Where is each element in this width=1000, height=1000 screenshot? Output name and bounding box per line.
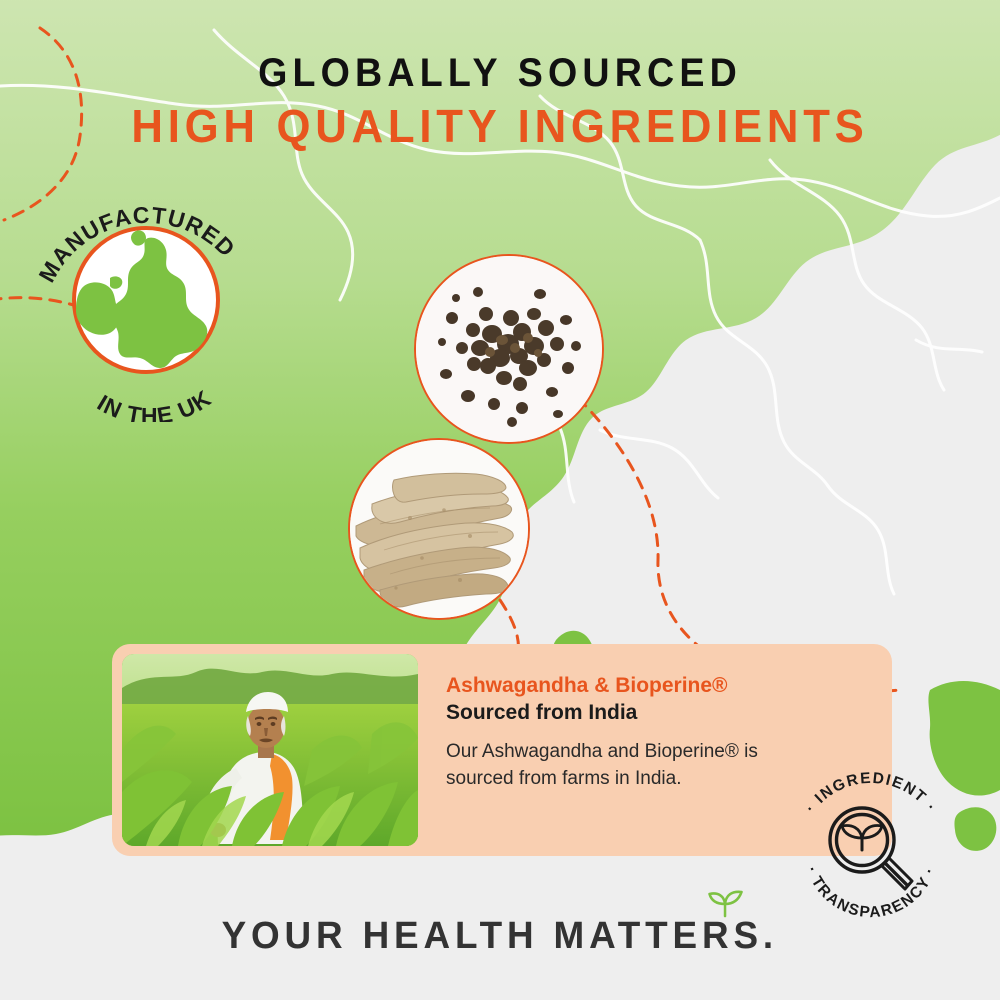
transparency-badge-bottom-text: · TRANSPARENCY · [803,864,939,921]
uk-badge-bottom-text: IN THE UK [93,384,216,422]
card-description: Our Ashwagandha and Bioperine® is source… [446,738,776,792]
magnifier-sprout-icon [830,808,912,889]
header-titles: GLOBALLY SOURCED HIGH QUALITY INGREDIENT… [0,48,1000,154]
ashwagandha-roots-photo [348,438,530,620]
card-heading-origin: Sourced from India [446,699,776,726]
infographic-canvas: GLOBALLY SOURCED HIGH QUALITY INGREDIENT… [0,0,1000,1000]
landmass-island-small [955,807,997,851]
title-line-primary: GLOBALLY SOURCED [30,48,970,98]
card-text-block: Ashwagandha & Bioperine® Sourced from In… [418,644,796,856]
india-sourcing-info-card: Ashwagandha & Bioperine® Sourced from In… [112,644,892,856]
footer-tagline-text: YOUR HEALTH MATTERS. [222,915,778,957]
footer-tagline: YOUR HEALTH MATTERS. [222,915,778,958]
ingredient-transparency-badge: · INGREDIENT · · TRANSPARENCY · [786,762,956,932]
card-heading-ingredients: Ashwagandha & Bioperine® [446,672,776,699]
manufactured-in-uk-badge: MANUFACTURED IN THE UK [22,192,272,422]
farmer-field-photo [122,654,418,846]
title-line-secondary: HIGH QUALITY INGREDIENTS [25,98,975,154]
black-peppercorns-photo [414,254,604,444]
sprout-leaf-icon [704,889,745,919]
